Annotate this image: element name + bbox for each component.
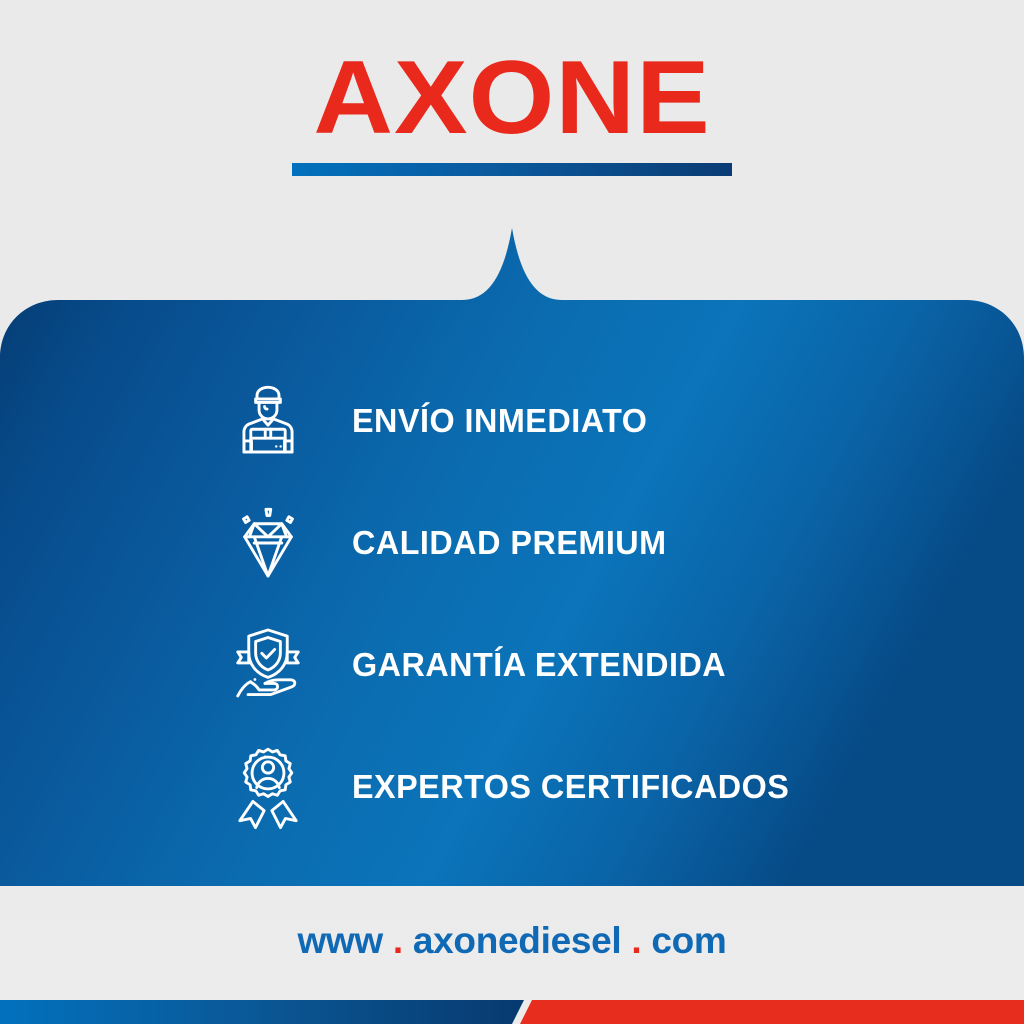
feature-label: GARANTÍA EXTENDIDA bbox=[352, 646, 726, 684]
website-prefix: www bbox=[297, 920, 382, 961]
award-rosette-person-icon bbox=[222, 741, 314, 833]
website-dot-separator: . bbox=[631, 920, 641, 961]
feature-row: CALIDAD PREMIUM bbox=[0, 482, 1024, 604]
feature-label: ENVÍO INMEDIATO bbox=[352, 402, 647, 440]
website-dot-separator: . bbox=[393, 920, 403, 961]
feature-row: ENVÍO INMEDIATO bbox=[0, 360, 1024, 482]
bottom-accent-bar bbox=[0, 1000, 1024, 1024]
shield-check-hand-icon bbox=[222, 619, 314, 711]
website-tld: com bbox=[651, 920, 726, 961]
feature-row: EXPERTOS CERTIFICADOS bbox=[0, 726, 1024, 848]
accent-bar-red-segment bbox=[520, 1000, 1024, 1024]
feature-label: CALIDAD PREMIUM bbox=[352, 524, 667, 562]
accent-bar-shape bbox=[0, 1000, 1024, 1024]
accent-bar-blue-segment bbox=[0, 1000, 524, 1024]
poster-canvas: AXONE bbox=[0, 0, 1024, 1024]
feature-label: EXPERTOS CERTIFICADOS bbox=[352, 768, 789, 806]
logo: AXONE bbox=[292, 46, 732, 176]
delivery-person-box-icon bbox=[222, 375, 314, 467]
website-url[interactable]: www . axonediesel . com bbox=[0, 920, 1024, 962]
diamond-gem-icon bbox=[222, 497, 314, 589]
features-list: ENVÍO INMEDIATO bbox=[0, 360, 1024, 848]
website-domain: axonediesel bbox=[413, 920, 622, 961]
feature-row: GARANTÍA EXTENDIDA bbox=[0, 604, 1024, 726]
logo-wordmark: AXONE bbox=[279, 46, 745, 150]
logo-underline-bar bbox=[292, 163, 732, 176]
